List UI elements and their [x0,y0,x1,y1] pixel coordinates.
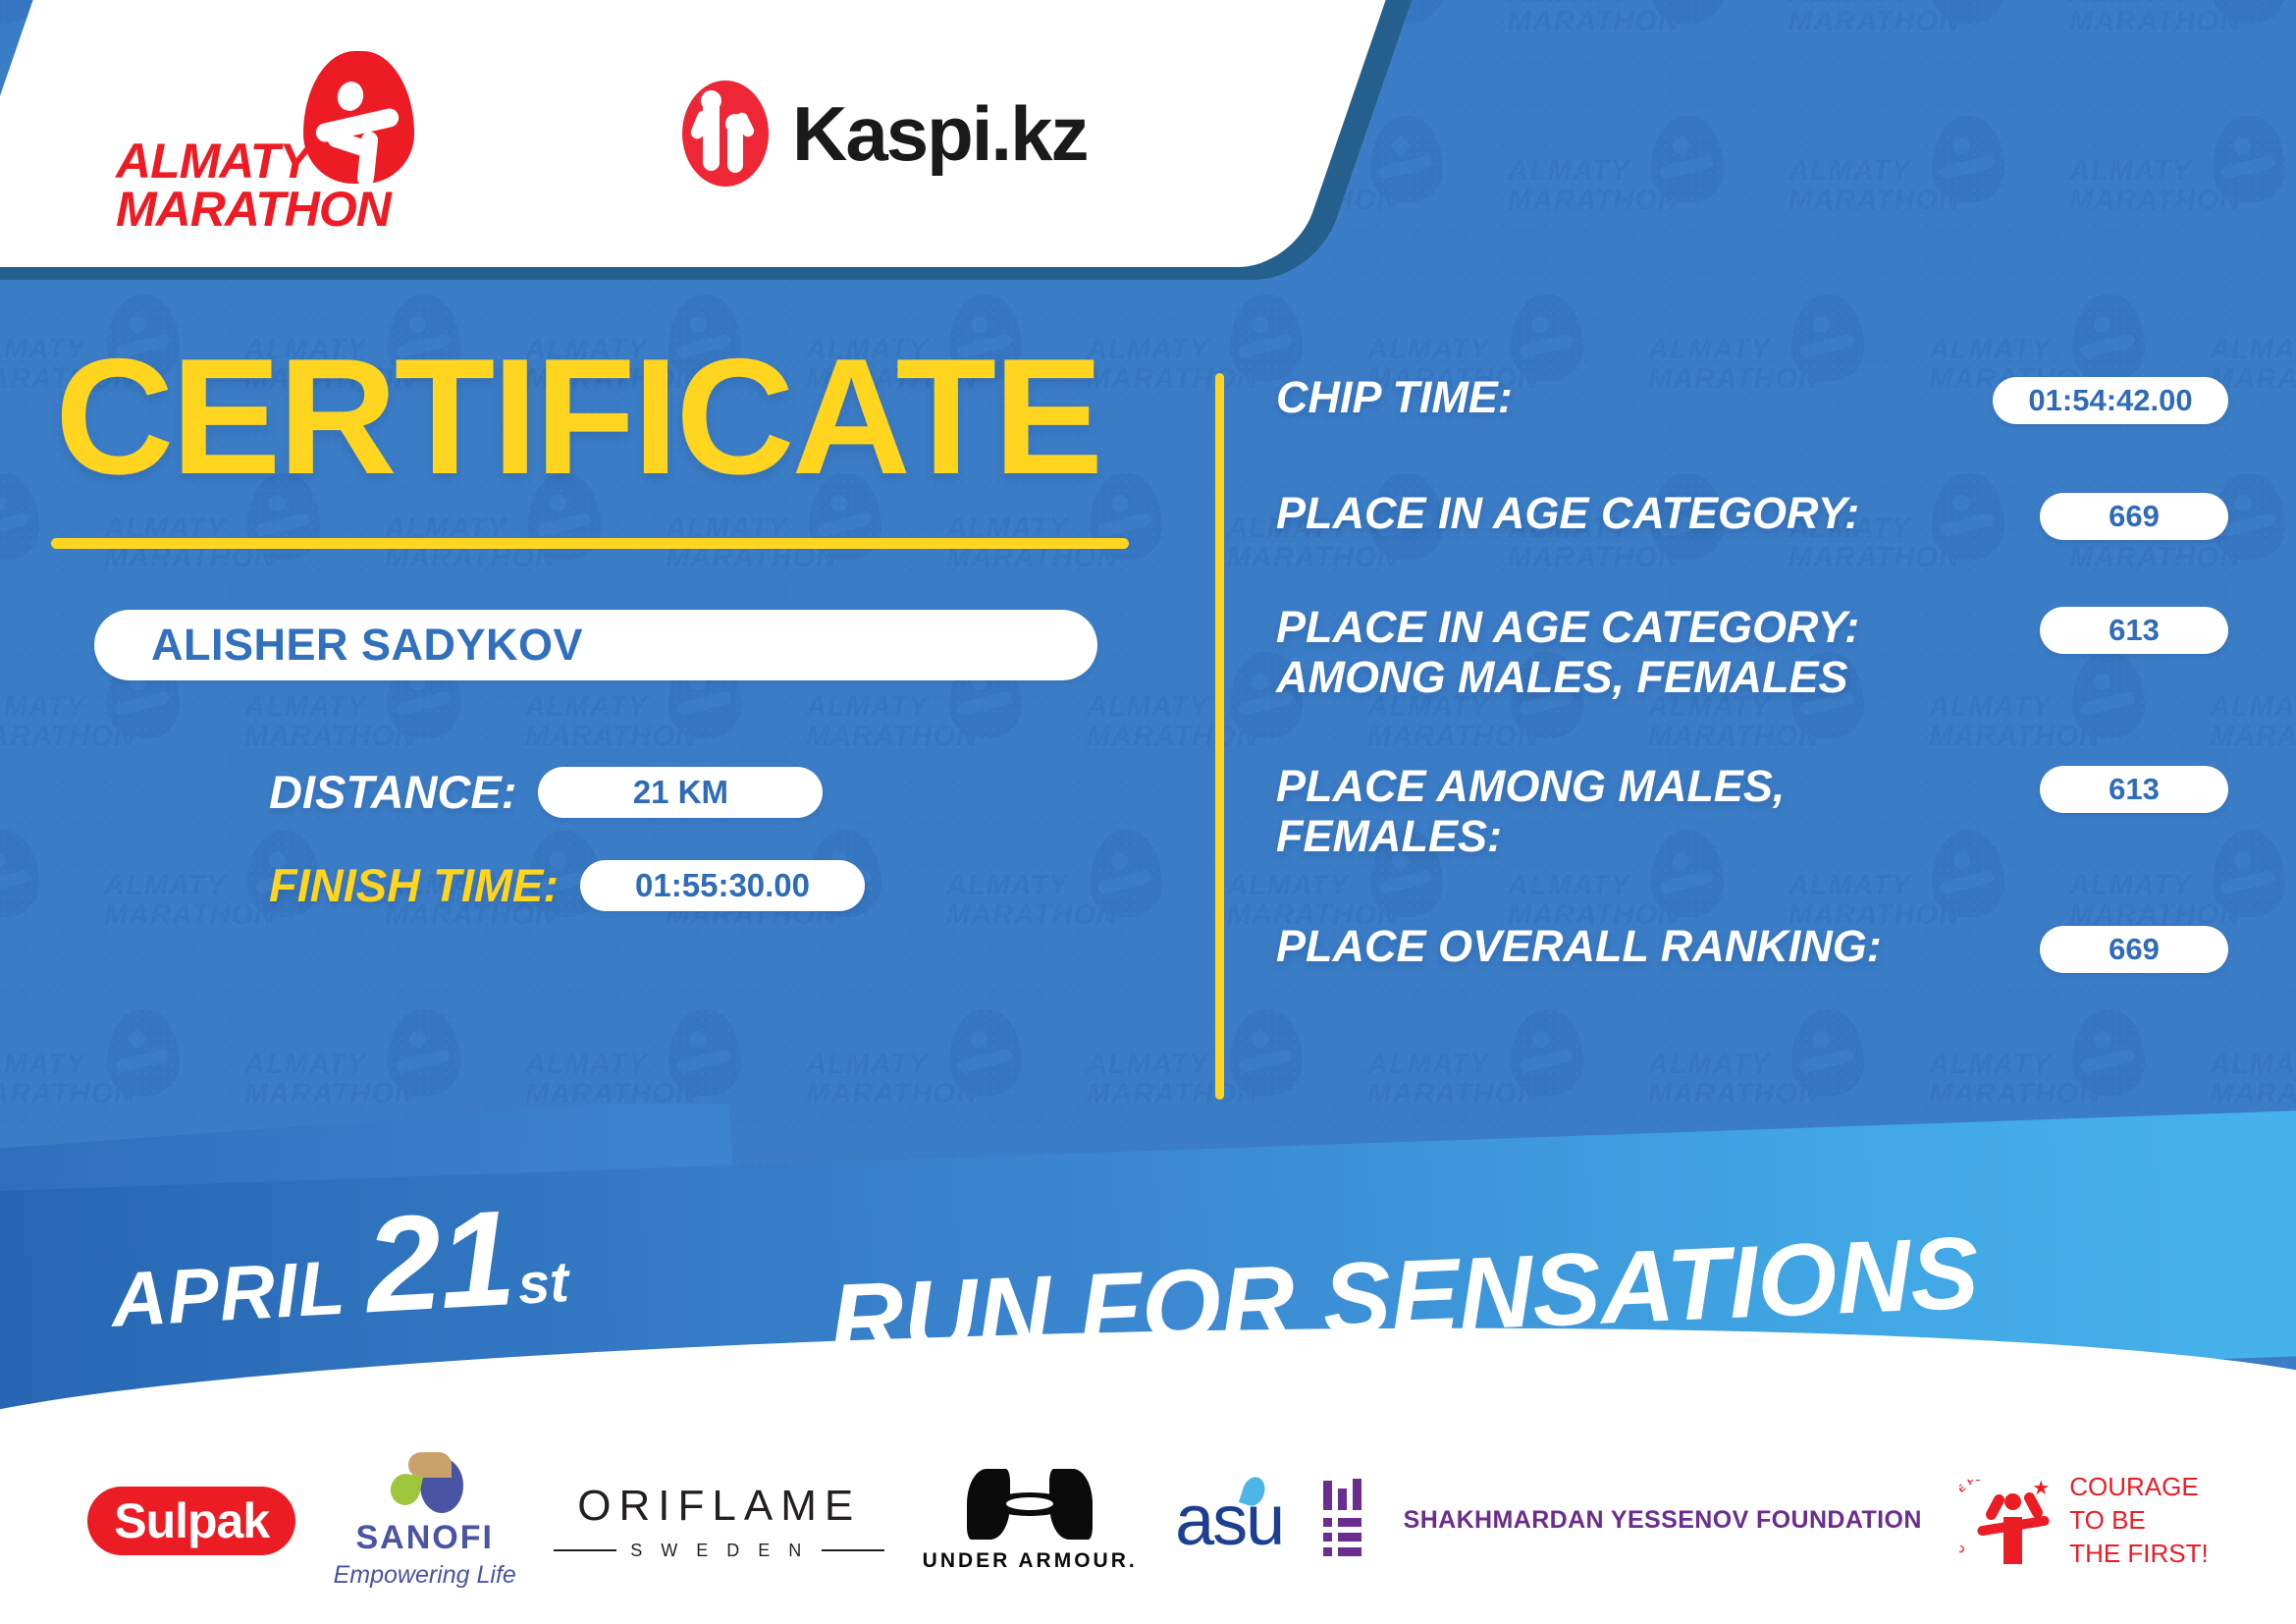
watermark-text: ALMATY MARATHON [2069,0,2241,36]
certificate-canvas: ALMATY MARATHONALMATY MARATHONALMATY MAR… [0,0,2296,1624]
star-icon: ★ [2032,1476,2050,1500]
stat-value-pill: 613 [2040,766,2228,813]
vertical-divider [1215,373,1224,1100]
asu-wordmark: asu [1175,1481,1283,1561]
corporate-fund-icon: CORPORATE FUND ★ [1959,1474,2054,1568]
sponsor-under-armour: UNDER ARMOUR. [923,1469,1138,1573]
watermark-tile: ALMATY MARATHON [1508,0,1743,98]
watermark-runner-icon [1651,0,1724,24]
watermark-tile: ALMATY MARATHON [2069,0,2296,98]
sponsor-corporate-fund: CORPORATE FUND ★ COURAGETO BETHE FIRST! [1959,1471,2209,1570]
watermark-runner-icon [1791,1009,1864,1096]
watermark-text: ALMATY MARATHON [1367,1051,1539,1109]
sulpak-logo: Sulpak [87,1487,295,1555]
event-day-suffix: st [516,1249,570,1318]
page-title: CERTIFICATE [55,334,1178,499]
watermark-runner-icon [949,1009,1022,1096]
stat-row-chip-time: CHIP TIME: 01:54:42.00 [1276,373,2228,424]
stat-row-place-age-category: PLACE IN AGE CATEGORY: 669 [1276,489,2228,540]
watermark-runner-icon [2213,116,2285,202]
marathon-logo-line1: ALMATY [116,137,391,186]
watermark-text: ALMATY MARATHON [1087,1051,1258,1109]
watermark-runner-icon [388,1009,460,1096]
watermark-runner-icon [107,1009,180,1096]
watermark-runner-icon [1511,295,1583,381]
distance-value-pill: 21 KM [538,767,823,818]
oriflame-rule-left [554,1549,616,1551]
event-day: 21 [362,1180,517,1344]
watermark-tile: ALMATY MARATHON [1789,120,2024,277]
finish-time-value-pill: 01:55:30.00 [580,860,865,911]
stat-label: PLACE IN AGE CATEGORY: [1276,489,1859,539]
stat-row-place-age-category-among: PLACE IN AGE CATEGORY:AMONG MALES, FEMAL… [1276,603,2228,703]
stat-label: PLACE OVERALL RANKING: [1276,922,1882,972]
stat-value-pill: 01:54:42.00 [1993,377,2228,424]
sponsor-bar: Sulpak SANOFI Empowering Life ORIFLAME S… [0,1418,2296,1624]
watermark-runner-icon [1511,1009,1583,1096]
watermark-text: ALMATY MARATHON [2069,157,2241,215]
stat-value-pill: 669 [2040,926,2228,973]
stat-value: 669 [2109,499,2160,534]
watermark-text: ALMATY MARATHON [1508,157,1680,215]
participant-name-value: ALISHER SADYKOV [151,620,583,671]
under-armour-icon [967,1469,1093,1540]
sponsor-asu: asu [1175,1481,1283,1561]
kaspi-wordmark: Kaspi.kz [792,89,1087,179]
watermark-text: ALMATY MARATHON [1648,1051,1820,1109]
event-month: APRIL [109,1243,348,1345]
watermark-tile: ALMATY MARATHON [1789,0,2024,98]
corporate-fund-slogan: COURAGETO BETHE FIRST! [2069,1471,2209,1570]
watermark-text: ALMATY MARATHON [0,1051,135,1109]
watermark-runner-icon [1230,1009,1303,1096]
stat-value: 669 [2109,932,2160,967]
watermark-runner-icon [1932,0,2004,24]
almaty-marathon-logo: ALMATY MARATHON [116,51,440,218]
title-underline [51,538,1129,549]
event-date: APRIL 21 st [106,1177,571,1359]
yessenov-foundation-icon [1321,1479,1382,1563]
watermark-text: ALMATY MARATHON [1789,0,1960,36]
stats-panel: CHIP TIME: 01:54:42.00 PLACE IN AGE CATE… [1276,373,2228,1008]
stat-value: 613 [2109,613,2160,648]
participant-name-field: ALISHER SADYKOV [94,610,1097,680]
oriflame-subline: S W E D E N [554,1541,884,1561]
almaty-marathon-wordmark: ALMATY MARATHON [116,137,391,234]
sanofi-wordmark: SANOFI [355,1519,493,1557]
corporate-fund-figure [1989,1489,2040,1564]
distance-row: DISTANCE: 21 KM [269,765,1178,819]
watermark-runner-icon [1230,295,1303,381]
finish-time-label: FINISH TIME: [269,858,559,912]
watermark-tile: ALMATY MARATHON [2069,120,2296,277]
sponsor-yessenov: SHAKHMARDAN YESSENOV FOUNDATION [1321,1479,1922,1563]
stat-label: CHIP TIME: [1276,373,1513,423]
watermark-runner-icon [668,1009,741,1096]
sponsor-sulpak: Sulpak [87,1487,295,1555]
watermark-text: ALMATY MARATHON [1789,157,1960,215]
under-armour-wordmark: UNDER ARMOUR. [923,1549,1138,1573]
watermark-text: ALMATY MARATHON [1929,1051,2101,1109]
watermark-text: ALMATY MARATHON [806,1051,978,1109]
stat-label: PLACE IN AGE CATEGORY:AMONG MALES, FEMAL… [1276,603,1859,703]
stat-row-place-among-males-females: PLACE AMONG MALES,FEMALES: 613 [1276,762,2228,862]
oriflame-country: S W E D E N [630,1541,808,1561]
stat-value: 613 [2109,772,2160,807]
yessenov-wordmark: SHAKHMARDAN YESSENOV FOUNDATION [1404,1505,1922,1536]
watermark-runner-icon [2072,1009,2145,1096]
kaspi-logo: Kaspi.kz [682,81,1087,187]
watermark-text: ALMATY MARATHON [525,1051,697,1109]
finish-time-value: 01:55:30.00 [635,867,810,904]
sponsor-sanofi: SANOFI Empowering Life [334,1452,516,1590]
header-panel: ALMATY MARATHON Kaspi.kz [0,0,1394,295]
sanofi-tagline: Empowering Life [334,1561,516,1590]
watermark-runner-icon [1791,295,1864,381]
oriflame-rule-right [822,1549,884,1551]
stat-value-pill: 669 [2040,493,2228,540]
finish-time-row: FINISH TIME: 01:55:30.00 [269,858,1178,912]
stat-label: PLACE AMONG MALES,FEMALES: [1276,762,1785,862]
oriflame-wordmark: ORIFLAME [577,1482,861,1531]
sponsor-oriflame: ORIFLAME S W E D E N [554,1482,884,1561]
stat-value-pill: 613 [2040,607,2228,654]
watermark-runner-icon [1651,116,1724,202]
kaspi-people-icon [682,81,769,187]
watermark-text: ALMATY MARATHON [244,1051,416,1109]
stat-value: 01:54:42.00 [2028,383,2192,418]
certificate-left-column: CERTIFICATE ALISHER SADYKOV DISTANCE: 21… [0,334,1178,912]
marathon-logo-line2: MARATHON [116,186,391,234]
stat-row-place-overall-ranking: PLACE OVERALL RANKING: 669 [1276,922,2228,973]
distance-label: DISTANCE: [269,765,516,819]
watermark-runner-icon [2072,295,2145,381]
sanofi-logo-icon [383,1452,467,1513]
watermark-runner-icon [1932,116,2004,202]
watermark-text: ALMATY MARATHON [1508,0,1680,36]
distance-value: 21 KM [633,774,728,811]
watermark-tile: ALMATY MARATHON [1508,120,1743,277]
header-content: ALMATY MARATHON Kaspi.kz [0,0,1178,280]
watermark-text: ALMATY MARATHON [2210,1051,2296,1109]
watermark-runner-icon [2213,0,2285,24]
